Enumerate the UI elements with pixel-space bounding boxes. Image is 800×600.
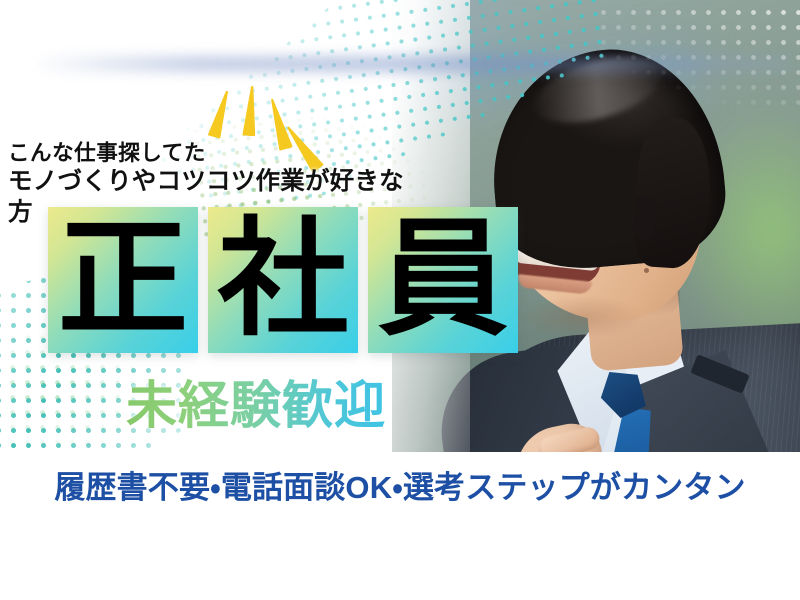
subheadline: 未経験歓迎: [126, 364, 386, 438]
job-ad-banner: こんな仕事探してた モノづくりやコツコツ作業が好きな方 正 社 員 未経験歓迎 …: [0, 0, 800, 600]
footer-text: 履歴書不要・電話面談OK・選考ステップがカンタン: [0, 462, 800, 507]
